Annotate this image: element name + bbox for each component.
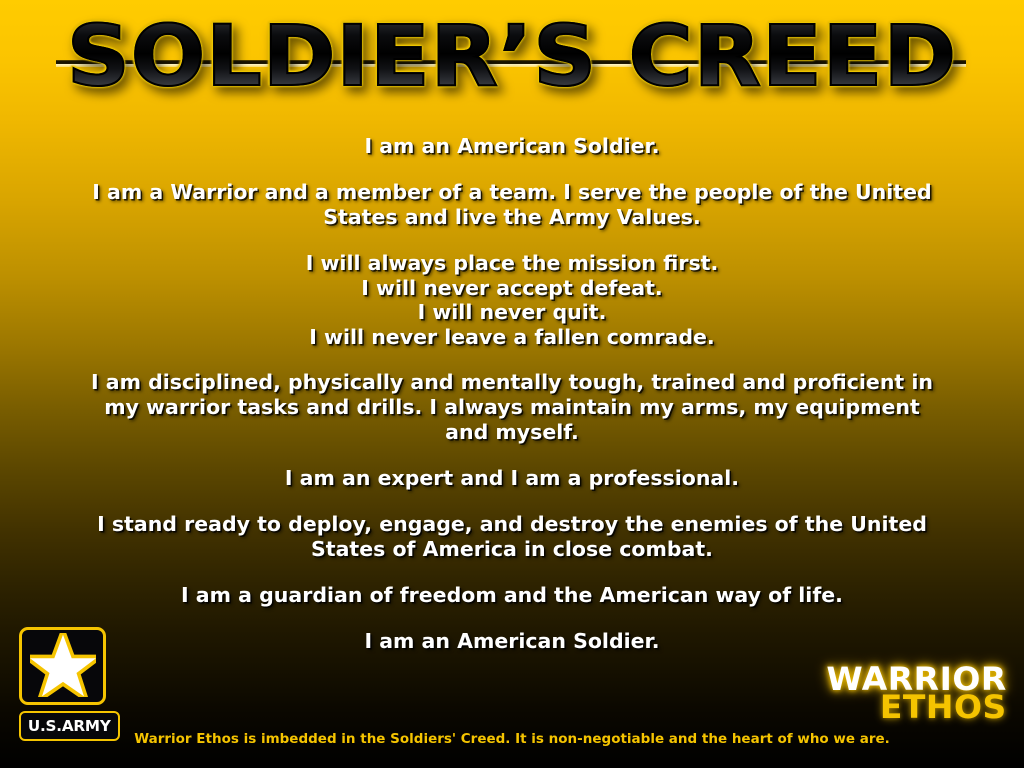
creed-stanza-2: I am a Warrior and a member of a team. I… [52, 180, 972, 230]
creed-line: I will always place the mission first. [52, 251, 972, 276]
creed-stanza-1: I am an American Soldier. [52, 134, 972, 159]
creed-stanza-4: I am disciplined, physically and mentall… [52, 370, 972, 445]
creed-body: I am an American Soldier. I am a Warrior… [52, 134, 972, 654]
creed-line: I am an American Soldier. [52, 629, 972, 654]
creed-line: I am a Warrior and a member of a team. I… [52, 180, 972, 205]
creed-line: I stand ready to deploy, engage, and des… [52, 512, 972, 537]
footer-note: Warrior Ethos is imbedded in the Soldier… [0, 731, 1024, 747]
creed-stanza-7: I am a guardian of freedom and the Ameri… [52, 583, 972, 608]
creed-stanza-8: I am an American Soldier. [52, 629, 972, 654]
title-block: SOLDIER’S CREED [0, 0, 1024, 122]
creed-line: States of America in close combat. [52, 537, 972, 562]
warrior-ethos-line-2: ETHOS [826, 694, 1006, 722]
army-star-icon [30, 633, 96, 697]
creed-stanza-6: I stand ready to deploy, engage, and des… [52, 512, 972, 562]
slide-canvas: SOLDIER’S CREED I am an American Soldier… [0, 0, 1024, 768]
creed-line: and myself. [52, 420, 972, 445]
creed-line: I am a guardian of freedom and the Ameri… [52, 583, 972, 608]
creed-line: I am an expert and I am a professional. [52, 466, 972, 491]
creed-line: I will never quit. [52, 300, 972, 325]
creed-line: States and live the Army Values. [52, 205, 972, 230]
us-army-logo: U.S.ARMY [19, 627, 112, 745]
creed-stanza-3: I will always place the mission first. I… [52, 251, 972, 349]
creed-line: I am an American Soldier. [52, 134, 972, 159]
creed-line: I am disciplined, physically and mentall… [52, 370, 972, 395]
creed-line: I will never accept defeat. [52, 276, 972, 301]
warrior-ethos-logo: WARRIOR ETHOS [829, 666, 1004, 721]
creed-stanza-5: I am an expert and I am a professional. [52, 466, 972, 491]
page-title: SOLDIER’S CREED [0, 4, 1024, 108]
creed-line: I will never leave a fallen comrade. [52, 325, 972, 350]
creed-line: my warrior tasks and drills. I always ma… [52, 395, 972, 420]
